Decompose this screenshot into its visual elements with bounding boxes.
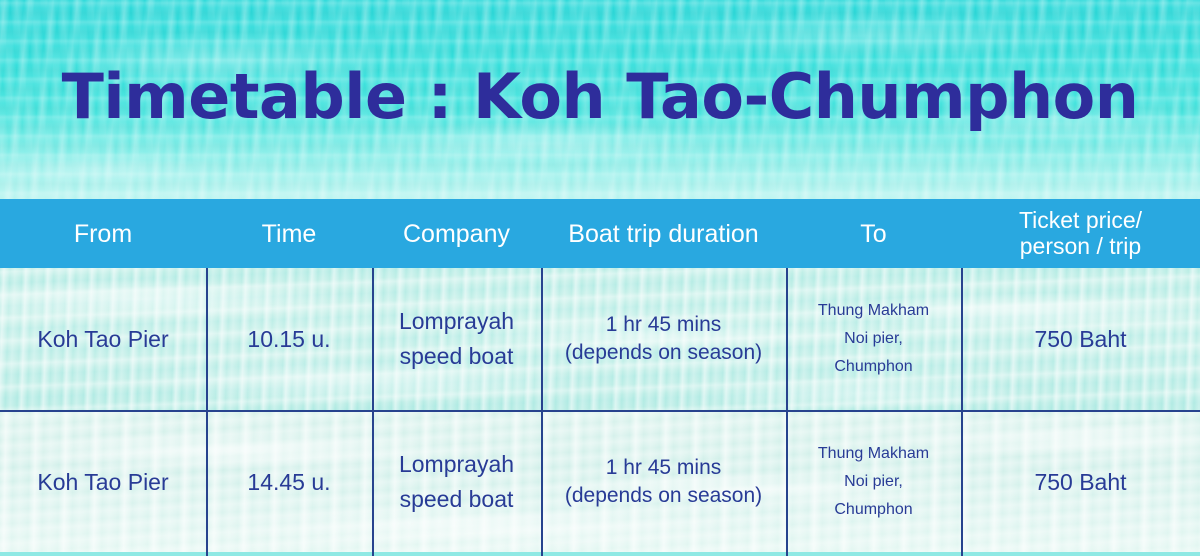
cell-to: Thung Makham Noi pier, Chumphon: [786, 412, 961, 552]
timetable: From Time Company Boat trip duration To …: [0, 199, 1200, 556]
table-body: Koh Tao Pier 10.15 u. Lomprayah speed bo…: [0, 268, 1200, 556]
table-header-row: From Time Company Boat trip duration To …: [0, 199, 1200, 268]
cell-company-line1: Lomprayah: [399, 304, 514, 339]
column-divider: [206, 268, 208, 556]
timetable-poster: Timetable : Koh Tao-Chumphon From Time C…: [0, 0, 1200, 556]
cell-duration-line2: (depends on season): [565, 482, 762, 510]
cell-duration-line1: 1 hr 45 mins: [606, 454, 722, 482]
page-title: Timetable : Koh Tao-Chumphon: [0, 60, 1200, 133]
cell-duration: 1 hr 45 mins (depends on season): [541, 268, 786, 410]
cell-price: 750 Baht: [961, 412, 1200, 552]
cell-to-line3: Chumphon: [834, 353, 912, 381]
cell-to-line3: Chumphon: [834, 496, 912, 524]
cell-time: 10.15 u.: [206, 268, 372, 410]
cell-price: 750 Baht: [961, 268, 1200, 410]
column-header-to: To: [786, 220, 961, 248]
cell-company: Lomprayah speed boat: [372, 412, 541, 552]
column-divider: [372, 268, 374, 556]
cell-to-line1: Thung Makham: [818, 297, 929, 325]
column-header-from: From: [0, 220, 206, 248]
cell-to-line2: Noi pier,: [844, 468, 903, 496]
table-row: Koh Tao Pier 10.15 u. Lomprayah speed bo…: [0, 268, 1200, 410]
cell-from: Koh Tao Pier: [0, 268, 206, 410]
cell-company-line2: speed boat: [400, 339, 514, 374]
cell-duration-line1: 1 hr 45 mins: [606, 311, 722, 339]
column-divider: [961, 268, 963, 556]
cell-time: 14.45 u.: [206, 412, 372, 552]
column-divider: [541, 268, 543, 556]
cell-duration-line2: (depends on season): [565, 339, 762, 367]
cell-company: Lomprayah speed boat: [372, 268, 541, 410]
cell-company-line2: speed boat: [400, 482, 514, 517]
cell-duration: 1 hr 45 mins (depends on season): [541, 412, 786, 552]
cell-from: Koh Tao Pier: [0, 412, 206, 552]
cell-to: Thung Makham Noi pier, Chumphon: [786, 268, 961, 410]
table-row: Koh Tao Pier 14.45 u. Lomprayah speed bo…: [0, 410, 1200, 552]
column-header-duration: Boat trip duration: [541, 220, 786, 248]
cell-to-line1: Thung Makham: [818, 440, 929, 468]
column-divider: [786, 268, 788, 556]
column-header-ticket-price: Ticket price/ person / trip: [961, 208, 1200, 260]
cell-company-line1: Lomprayah: [399, 447, 514, 482]
column-header-company: Company: [372, 220, 541, 248]
column-header-time: Time: [206, 220, 372, 248]
cell-to-line2: Noi pier,: [844, 325, 903, 353]
